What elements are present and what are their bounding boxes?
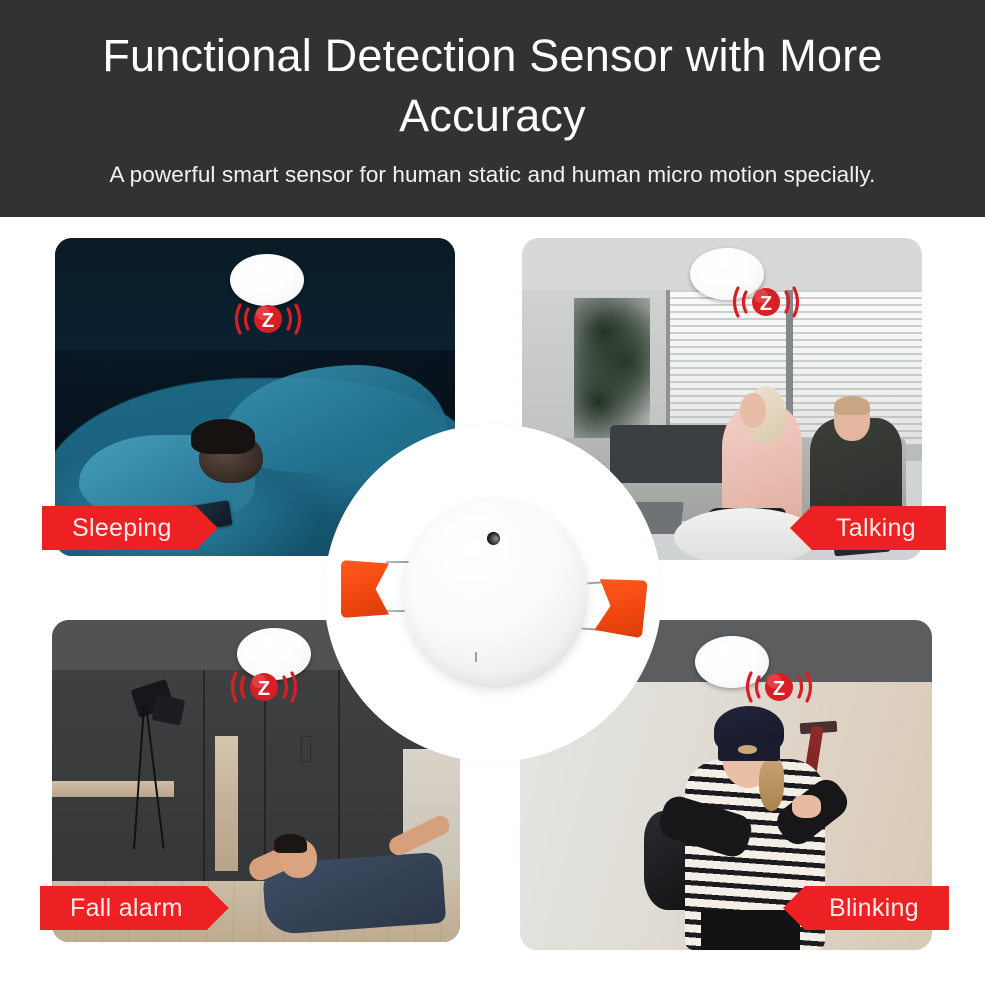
svg-text:Z: Z (773, 678, 785, 700)
ribbon-fold (936, 930, 949, 943)
person-talking-face (740, 393, 766, 428)
person-listening-hair (834, 396, 870, 415)
label-talking: Talking (790, 506, 946, 550)
burglar-hair (759, 759, 784, 812)
fallen-person-hair (274, 834, 307, 853)
sensor-marking (475, 652, 477, 662)
svg-text:Z: Z (258, 678, 270, 700)
sofa-backrest (610, 425, 730, 483)
page-title: Functional Detection Sensor with More Ac… (78, 26, 908, 146)
label-sleeping: Sleeping (42, 506, 218, 550)
label-sleeping-text: Sleeping (72, 514, 172, 543)
burglar-eye-hole (738, 745, 757, 754)
sensor-lens-hole-icon (487, 532, 500, 545)
label-blinking-text: Blinking (829, 894, 919, 923)
label-fall-alarm-text: Fall alarm (70, 894, 183, 923)
ceiling-sensor-disc (230, 254, 304, 306)
svg-text:Z: Z (760, 293, 772, 315)
sensor-product-body (403, 500, 588, 688)
zigbee-icon: Z (227, 668, 301, 706)
label-blinking: Blinking (783, 886, 949, 930)
wall-switch-plate (301, 736, 311, 762)
zigbee-icon: Z (231, 300, 305, 338)
sleeping-person-hair (191, 419, 255, 454)
ribbon-fold (933, 550, 946, 563)
label-fall-alarm: Fall alarm (40, 886, 229, 930)
wood-door-strip (215, 736, 237, 871)
page-subtitle: A powerful smart sensor for human static… (109, 160, 875, 190)
burglar-legs (701, 910, 800, 950)
cabinet-seam (203, 670, 205, 895)
svg-text:Z: Z (262, 310, 274, 332)
ribbon-fold (42, 550, 55, 563)
zigbee-icon: Z (729, 283, 803, 321)
burglar-hand (792, 795, 821, 818)
header-banner: Functional Detection Sensor with More Ac… (0, 0, 985, 217)
label-talking-text: Talking (836, 514, 916, 543)
zigbee-icon: Z (742, 668, 816, 706)
